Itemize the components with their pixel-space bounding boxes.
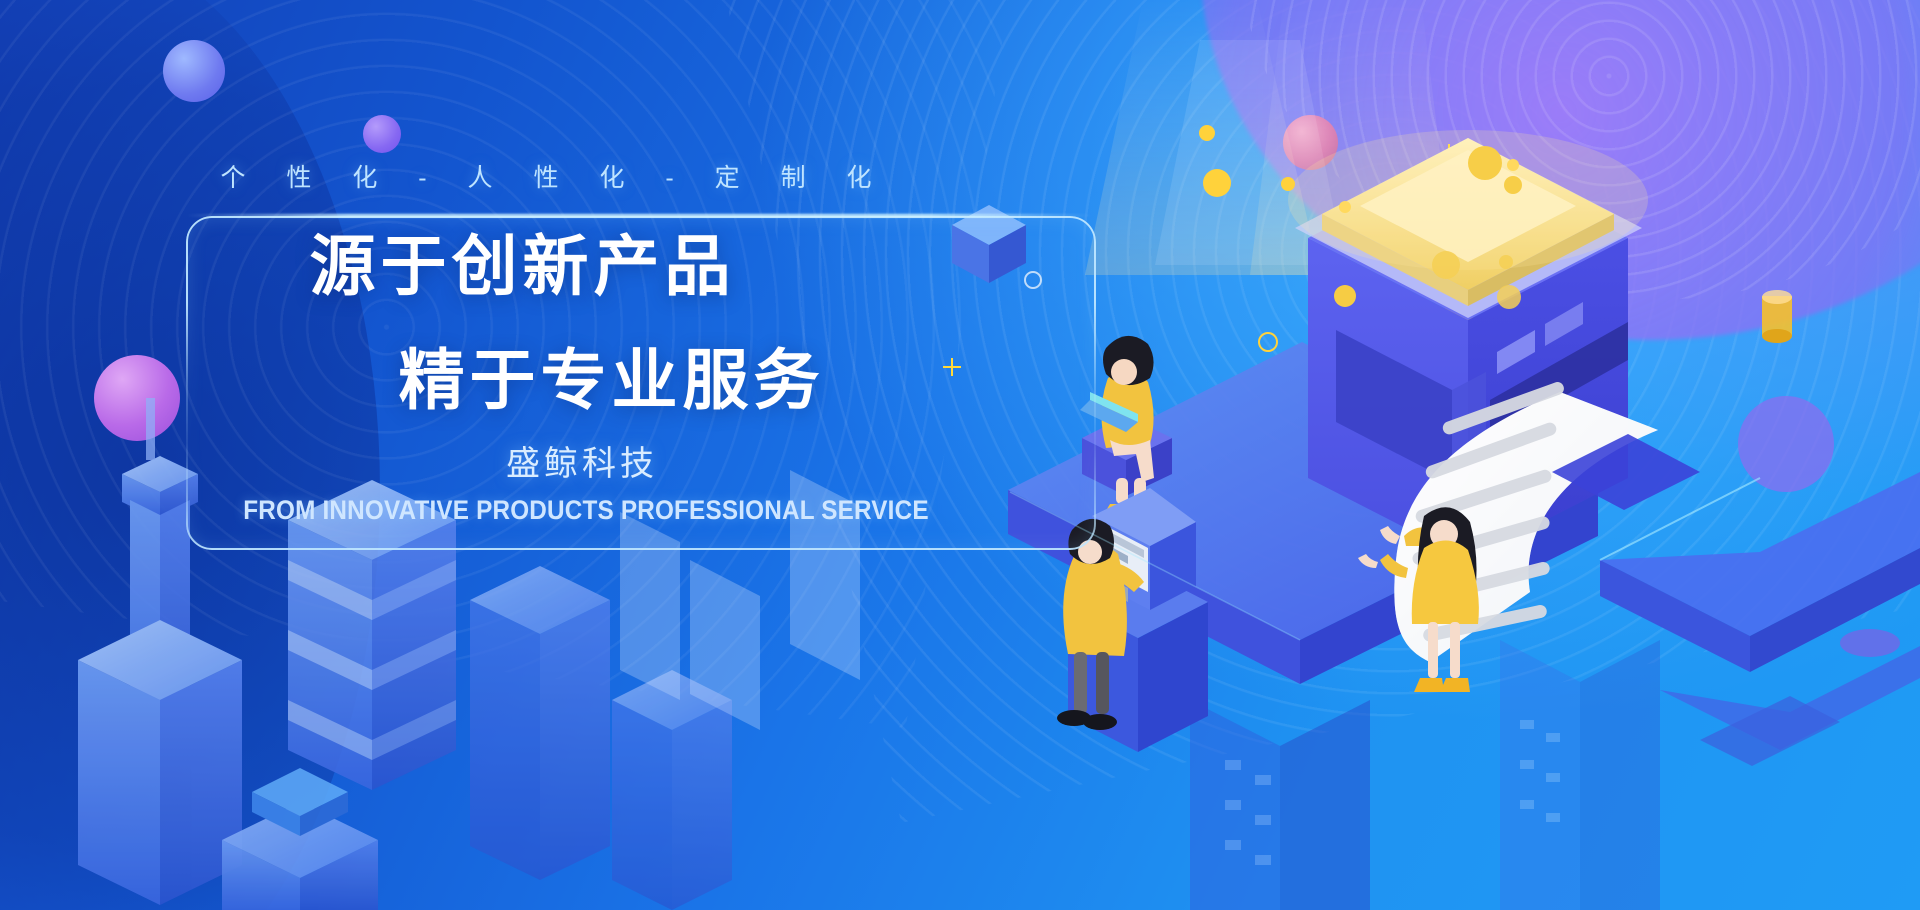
plus-icon-cyan <box>1382 225 1398 241</box>
headline-line-1: 源于创新产品 <box>0 233 1040 299</box>
plus-icon-yellow-right <box>1437 144 1461 168</box>
purple-blob-shape <box>1200 0 1920 340</box>
purple-sphere-top-left <box>163 40 225 102</box>
headline-frame-top-glow <box>186 214 1092 217</box>
pink-sphere-right <box>1283 115 1338 170</box>
woman-holding-printout <box>1358 507 1479 692</box>
tagline-text: 个 性 化 - 人 性 化 - 定 制 化 <box>0 158 1092 194</box>
purple-sphere-small-top <box>363 115 401 153</box>
company-name: 盛鲸科技 <box>0 436 1160 485</box>
yellow-cylinder-floating <box>1762 290 1792 343</box>
english-tagline: FROM INNOVATIVE PRODUCTS PROFESSIONAL SE… <box>59 495 1114 526</box>
hero-banner: 个 性 化 - 人 性 化 - 定 制 化 源于创新产品 精于专业服务 盛鲸科技… <box>0 0 1920 910</box>
headline-line-2: 精于专业服务 <box>0 347 1218 413</box>
yellow-cylinder-decoration <box>1442 292 1476 348</box>
purple-blob-rings <box>1240 0 1920 300</box>
ring-outline-yellow <box>1258 332 1278 352</box>
